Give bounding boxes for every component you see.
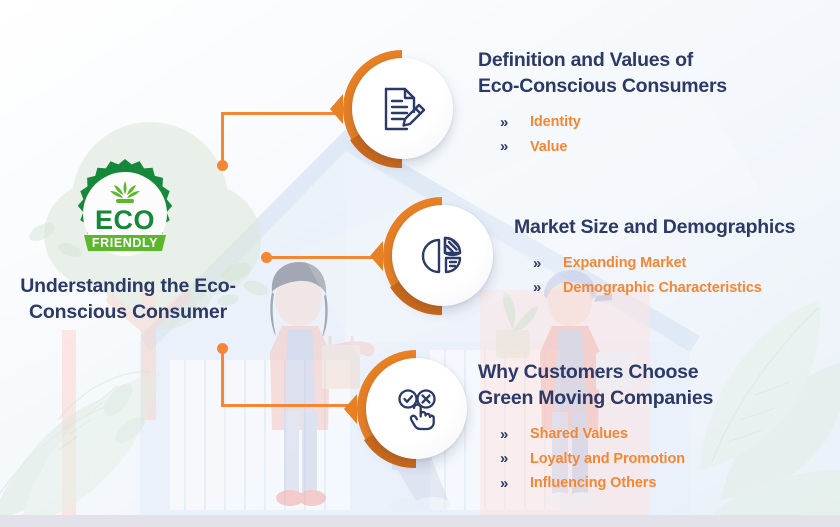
section-1-bullets: » Identity » Value (500, 114, 727, 155)
section-3-heading: Why Customers Choose Green Moving Compan… (478, 360, 713, 412)
bullet-label: Demographic Characteristics (563, 280, 762, 297)
list-item[interactable]: » Loyalty and Promotion (500, 451, 713, 468)
chevron-right-icon: » (500, 451, 530, 466)
eco-friendly-badge: ECO FRIENDLY (68, 157, 182, 271)
section-3-bullets: » Shared Values » Loyalty and Promotion … (500, 426, 713, 492)
node-1-disc (352, 58, 453, 159)
choice-hand-icon (392, 384, 442, 434)
badge-friendly-text: FRIENDLY (92, 236, 158, 250)
node-3-disc (366, 358, 467, 459)
list-item[interactable]: » Identity (500, 114, 727, 131)
section-market-size-and-demographics: Market Size and Demographics » Expanding… (514, 215, 795, 304)
list-item[interactable]: » Influencing Others (500, 475, 713, 492)
infographic-canvas: ECO FRIENDLY Understanding the Eco-Consc… (0, 0, 840, 527)
section-why-customers-choose: Why Customers Choose Green Moving Compan… (478, 360, 713, 500)
connector-1-vertical (221, 113, 224, 163)
connector-2-horizontal (266, 256, 382, 259)
icon-node-why-customers-choose[interactable] (344, 347, 468, 471)
connector-3-horizontal (221, 404, 356, 407)
bullet-label: Expanding Market (563, 255, 686, 272)
list-item[interactable]: » Value (500, 139, 727, 156)
node-2-disc (392, 205, 493, 306)
pie-chart-icon (418, 231, 468, 281)
section-2-bullets: » Expanding Market » Demographic Charact… (533, 255, 795, 296)
bullet-label: Value (530, 139, 567, 156)
document-pencil-icon (378, 84, 428, 134)
section-2-heading: Market Size and Demographics (514, 215, 795, 241)
icon-node-definition-and-values[interactable] (330, 47, 454, 171)
badge-eco-text: ECO (95, 205, 155, 235)
bullet-label: Influencing Others (530, 475, 656, 492)
badge-banner: FRIENDLY (84, 235, 166, 251)
list-item[interactable]: » Demographic Characteristics (533, 280, 795, 297)
connector-1-horizontal (221, 112, 341, 115)
chevron-right-icon: » (500, 427, 530, 442)
bullet-label: Identity (530, 114, 581, 131)
chevron-right-icon: » (500, 476, 530, 491)
list-item[interactable]: » Shared Values (500, 426, 713, 443)
page-title: Understanding the Eco-Conscious Consumer (8, 274, 248, 325)
chevron-right-icon: » (533, 280, 563, 295)
section-1-heading: Definition and Values of Eco-Conscious C… (478, 48, 727, 100)
list-item[interactable]: » Expanding Market (533, 255, 795, 272)
section-definition-and-values: Definition and Values of Eco-Conscious C… (478, 48, 727, 163)
floor-strip (0, 515, 840, 527)
icon-node-market-size[interactable] (370, 194, 494, 318)
bullet-label: Loyalty and Promotion (530, 451, 685, 468)
chevron-right-icon: » (533, 256, 563, 271)
connector-3-vertical (221, 348, 224, 406)
chevron-right-icon: » (500, 115, 530, 130)
bullet-label: Shared Values (530, 426, 628, 443)
chevron-right-icon: » (500, 139, 530, 154)
